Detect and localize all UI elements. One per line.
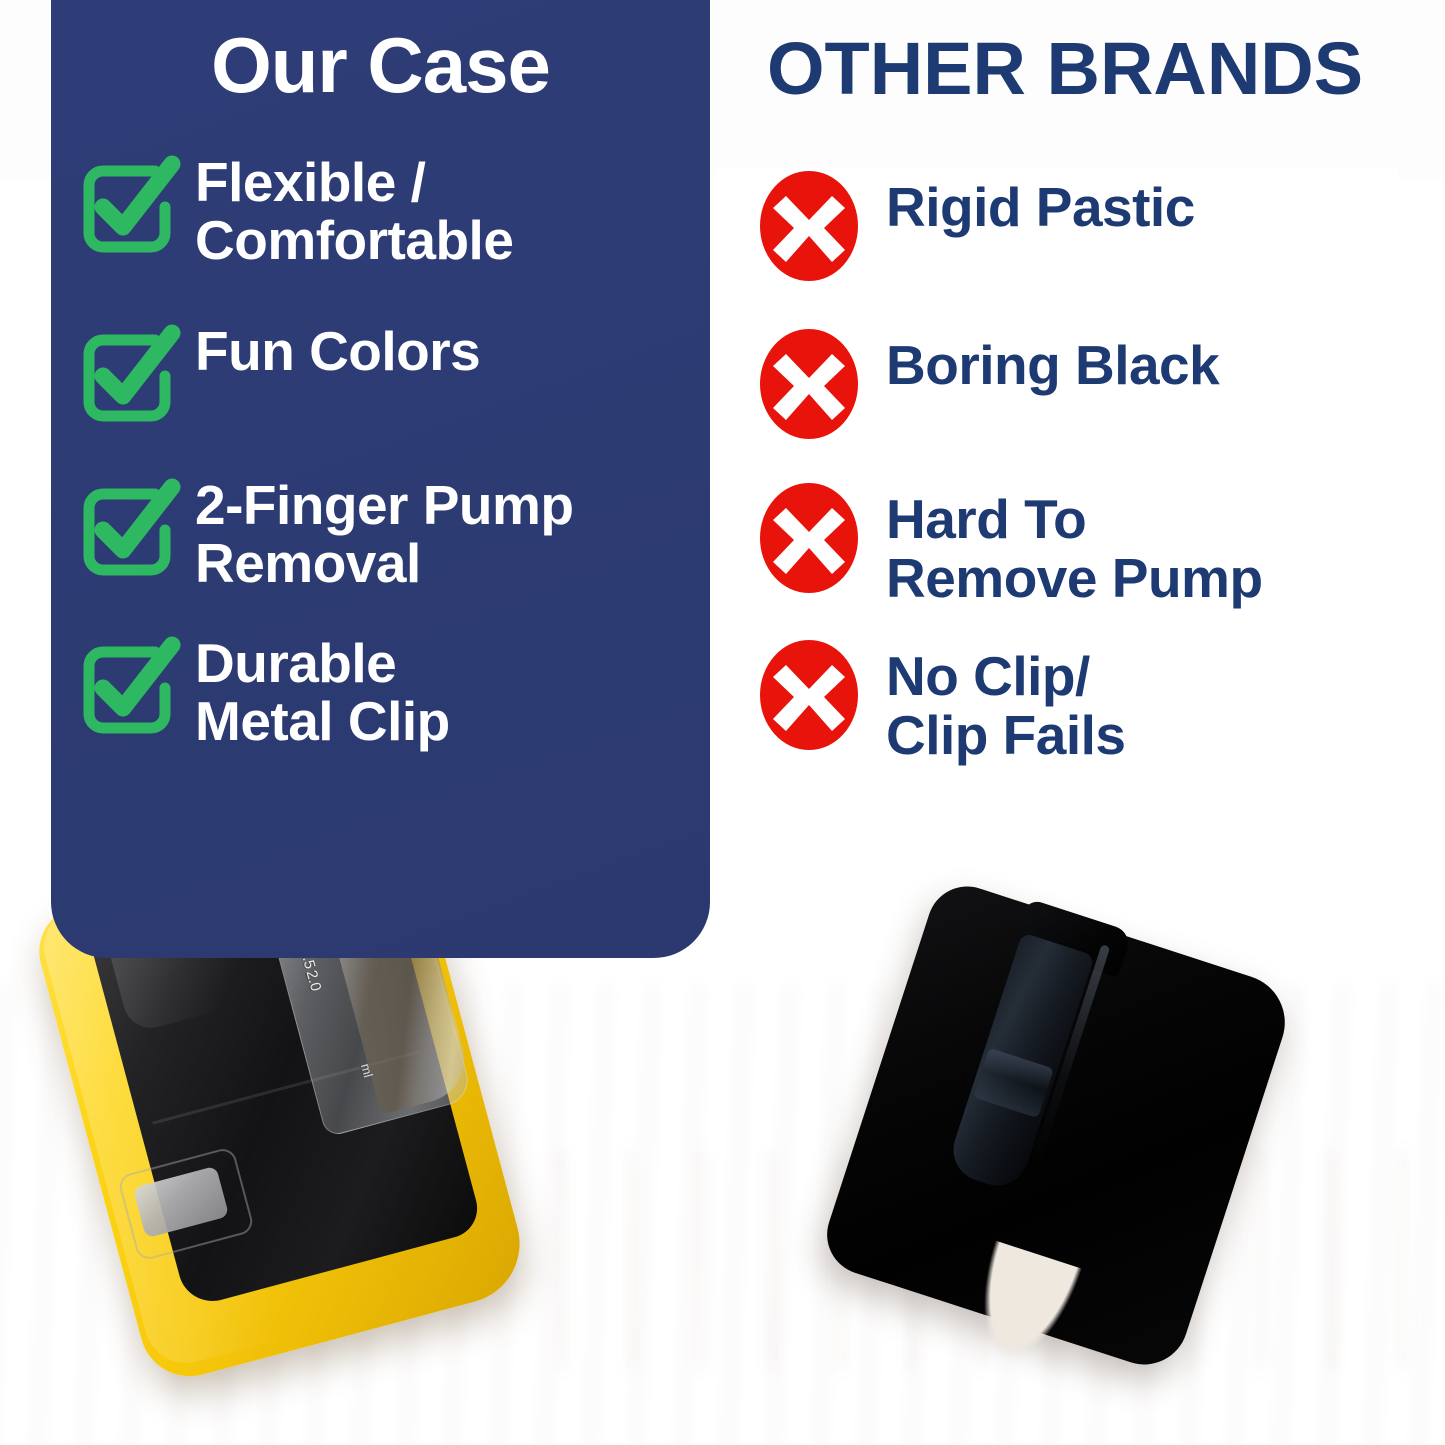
checkbox-check-icon <box>77 632 181 736</box>
pros-list-item: Fun Colors <box>77 314 717 424</box>
checkbox-check-icon <box>77 474 181 578</box>
pros-list-item: 2-Finger Pump Removal <box>77 468 717 593</box>
circle-x-icon <box>760 170 858 282</box>
pros-list-item-label: Flexible / Comfortable <box>195 145 513 270</box>
cons-list-item-label: No Clip/ Clip Fails <box>886 637 1126 766</box>
pros-list-item: Durable Metal Clip <box>77 626 717 751</box>
cons-list-item-label: Rigid Pastic <box>886 168 1195 237</box>
cons-list-item: Hard To Remove Pump <box>760 480 1400 609</box>
cons-list: Rigid Pastic Boring Black Hard To Remove… <box>760 168 1400 794</box>
our-case-panel: Our Case Flexible / Comfortable <box>51 0 710 958</box>
pros-list-item-label: Fun Colors <box>195 314 480 380</box>
pros-list-item-label: 2-Finger Pump Removal <box>195 468 574 593</box>
circle-x-icon <box>760 482 858 594</box>
cons-list-item-label: Boring Black <box>886 326 1219 395</box>
pros-list-item: Flexible / Comfortable <box>77 145 717 270</box>
circle-x-icon <box>760 639 858 751</box>
cons-list-item: Rigid Pastic <box>760 168 1400 282</box>
comparison-infographic: Our Case Flexible / Comfortable <box>0 0 1445 1445</box>
pros-list-item-label: Durable Metal Clip <box>195 626 450 751</box>
cons-list-item: Boring Black <box>760 326 1400 440</box>
black-rigid-clip-case-photo <box>830 900 1350 1380</box>
circle-x-icon <box>760 328 858 440</box>
other-brands-title: OTHER BRANDS <box>735 32 1395 106</box>
reservoir-scale-label: 2.0 <box>303 969 332 1020</box>
cons-list-item-label: Hard To Remove Pump <box>886 480 1263 609</box>
pros-list: Flexible / Comfortable Fun Colors <box>77 145 717 765</box>
cons-list-item: No Clip/ Clip Fails <box>760 637 1400 766</box>
our-case-title: Our Case <box>51 26 710 104</box>
checkbox-check-icon <box>77 151 181 255</box>
checkbox-check-icon <box>77 320 181 424</box>
